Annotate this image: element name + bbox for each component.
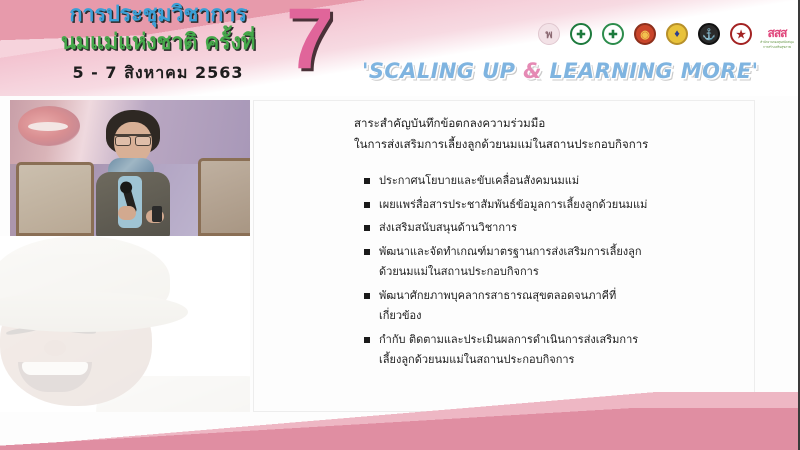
logo-royal-college-icon: ♦ <box>664 22 691 52</box>
bullet-square-icon <box>364 202 370 208</box>
speaker-glasses <box>115 134 151 142</box>
conference-edition-number: 7 <box>286 0 334 82</box>
bullet-text-line1: ส่งเสริมสนับสนุนด้านวิชาการ <box>379 221 517 234</box>
conference-title-line2: นมแม่แห่งชาติ ครั้งที่ <box>18 30 298 56</box>
child-teeth <box>22 362 88 375</box>
presentation-slide: การประชุมวิชาการ นมแม่แห่งชาติ ครั้งที่ … <box>0 0 800 450</box>
slide-heading: สาระสำคัญบันทึกข้อตกลงความร่วมมือ ในการส… <box>354 113 754 155</box>
list-item: ส่งเสริมสนับสนุนด้านวิชาการ <box>364 218 756 239</box>
logo-doh-glyph: ✚ <box>602 23 624 45</box>
stage-chair-left <box>16 162 94 236</box>
logo-medical-association-icon: ★ <box>728 22 755 52</box>
logo-royal-patronage-icon: พ <box>536 22 563 52</box>
logo-nursing-council-glyph: ⚓ <box>698 23 720 45</box>
logo-royal-college-glyph: ♦ <box>666 23 688 45</box>
logo-ministry-of-public-health-icon: ✚ <box>568 22 595 52</box>
backdrop-lips-graphic <box>18 106 80 146</box>
bullet-text-line2: ด้วยนมแม่ในสถานประกอบกิจการ <box>379 262 756 283</box>
conference-title-line1: การประชุมวิชาการ <box>18 2 298 28</box>
slide-heading-line2: ในการส่งเสริมการเลี้ยงลูกด้วยนมแม่ในสถาน… <box>354 134 754 155</box>
tagline-ampersand: & <box>523 59 542 83</box>
organization-logo-row: พ ✚ ✚ ◉ ♦ ⚓ ★ สสส สำนักงานกองทุนสนับสน <box>536 22 794 52</box>
child-hat-brim <box>0 292 188 332</box>
logo-moph-glyph: ✚ <box>570 23 592 45</box>
bullet-square-icon <box>364 249 370 255</box>
bullet-text-line2: เกี่ยวข้อง <box>379 306 756 327</box>
list-item: พัฒนาและจัดทำเกณฑ์มาตรฐานการส่งเสริมการเ… <box>364 242 756 283</box>
tagline-part1: 'SCALING UP <box>362 59 523 83</box>
child-photo-layers <box>0 236 250 412</box>
bullet-square-icon <box>364 225 370 231</box>
bullet-text-line1: พัฒนาศักยภาพบุคลากรสาธารณสุขตลอดจนภาคีที… <box>379 289 616 302</box>
conference-tagline: 'SCALING UP & LEARNING MORE' <box>362 58 758 84</box>
bullet-square-icon <box>364 178 370 184</box>
slide-content-panel: สาระสำคัญบันทึกข้อตกลงความร่วมมือ ในการส… <box>253 100 755 412</box>
bullet-square-icon <box>364 293 370 299</box>
list-item: ประกาศนโยบายและขับเคลื่อนสังคมนมแม่ <box>364 171 756 192</box>
bullet-text-line2: เลี้ยงลูกด้วยนมแม่ในสถานประกอบกิจการ <box>379 350 756 371</box>
presenter-remote <box>152 206 162 222</box>
slide-bullet-list: ประกาศนโยบายและขับเคลื่อนสังคมนมแม่ เผยแ… <box>364 171 756 374</box>
child-nose <box>44 340 66 356</box>
logo-thaihealth-subtext: สำนักงานกองทุนสนับสนุนการสร้างเสริมสุขภา… <box>760 40 794 50</box>
slide-heading-line1: สาระสำคัญบันทึกข้อตกลงความร่วมมือ <box>354 113 754 134</box>
logo-royal-patronage-glyph: พ <box>538 23 560 45</box>
logo-thai-breastfeeding-center-icon: ◉ <box>632 22 659 52</box>
conference-title-block: การประชุมวิชาการ นมแม่แห่งชาติ ครั้งที่ … <box>18 2 298 86</box>
logo-nursing-council-icon: ⚓ <box>696 22 723 52</box>
child-watermark-photo <box>0 236 250 412</box>
bullet-square-icon <box>364 337 370 343</box>
logo-thaihealth-icon: สสส สำนักงานกองทุนสนับสนุนการสร้างเสริมส… <box>760 22 794 52</box>
speaker-hand-left <box>118 206 136 220</box>
conference-date: 5 - 7 สิงหาคม 2563 <box>18 61 298 86</box>
slide-header-banner: การประชุมวิชาการ นมแม่แห่งชาติ ครั้งที่ … <box>0 0 800 96</box>
list-item: เผยแพร่สื่อสารประชาสัมพันธ์ข้อมูลการเลี้… <box>364 195 756 216</box>
logo-thaihealth-text: สสส <box>760 24 794 40</box>
bullet-text-line1: ประกาศนโยบายและขับเคลื่อนสังคมนมแม่ <box>379 174 579 187</box>
stage-chair-right <box>198 158 250 236</box>
logo-medical-association-glyph: ★ <box>730 23 752 45</box>
bullet-text-line1: กำกับ ติดตามและประเมินผลการดำเนินการส่งเ… <box>379 333 638 346</box>
tagline-part2: LEARNING MORE' <box>542 59 759 83</box>
speaker-figure <box>90 110 176 236</box>
logo-tbc-glyph: ◉ <box>634 23 656 45</box>
list-item: พัฒนาศักยภาพบุคลากรสาธารณสุขตลอดจนภาคีที… <box>364 286 756 327</box>
speaker-video-feed[interactable] <box>10 100 250 236</box>
logo-department-of-health-icon: ✚ <box>600 22 627 52</box>
bullet-text-line1: พัฒนาและจัดทำเกณฑ์มาตรฐานการส่งเสริมการเ… <box>379 245 642 258</box>
footer-ribbon-dark <box>0 408 800 450</box>
list-item: กำกับ ติดตามและประเมินผลการดำเนินการส่งเ… <box>364 330 756 371</box>
bullet-text-line1: เผยแพร่สื่อสารประชาสัมพันธ์ข้อมูลการเลี้… <box>379 198 647 211</box>
footer-ribbon <box>0 392 800 450</box>
